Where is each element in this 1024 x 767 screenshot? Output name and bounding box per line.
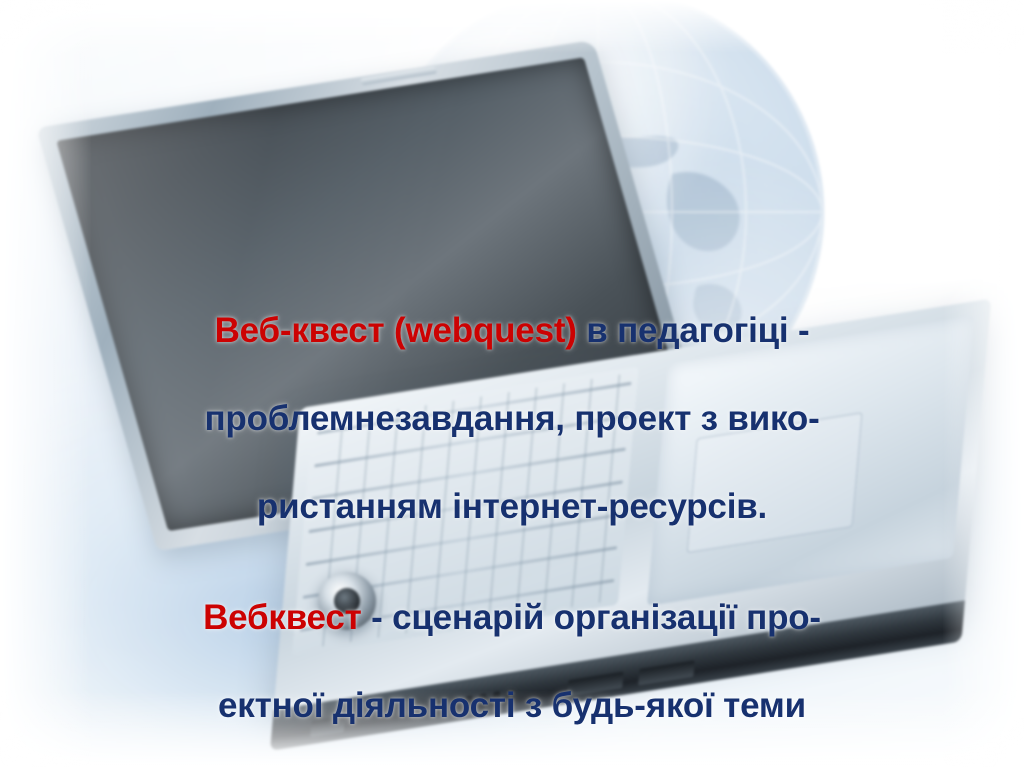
- slide-text-layer: Веб-квест (webquest) в педагогіці - проб…: [0, 0, 1024, 767]
- paragraph-1-line-3: ристанням інтернет-ресурсів.: [62, 485, 962, 529]
- paragraph-1-line-1-rest: в педагогіці -: [577, 311, 810, 350]
- paragraph-2-line-1-rest: - сценарій організації про-: [362, 598, 821, 637]
- paragraph-definition-webquest: Веб-квест (webquest) в педагогіці - проб…: [0, 265, 1024, 573]
- paragraph-2-line-2: ектної діяльності з будь-якої теми: [62, 684, 962, 728]
- paragraph-1-line-1: Веб-квест (webquest) в педагогіці -: [62, 309, 962, 353]
- accent-term-vebkvest: Вебквест: [203, 598, 361, 637]
- paragraph-definition-vebkvest: Вебквест - сценарій організації про- ект…: [0, 552, 1024, 767]
- accent-term-webquest: Веб-квест (webquest): [215, 311, 577, 350]
- paragraph-2-line-1: Вебквест - сценарій організації про-: [62, 596, 962, 640]
- presentation-slide: Веб-квест (webquest) в педагогіці - проб…: [0, 0, 1024, 767]
- paragraph-1-line-2: проблемнезавдання, проект з вико-: [62, 397, 962, 441]
